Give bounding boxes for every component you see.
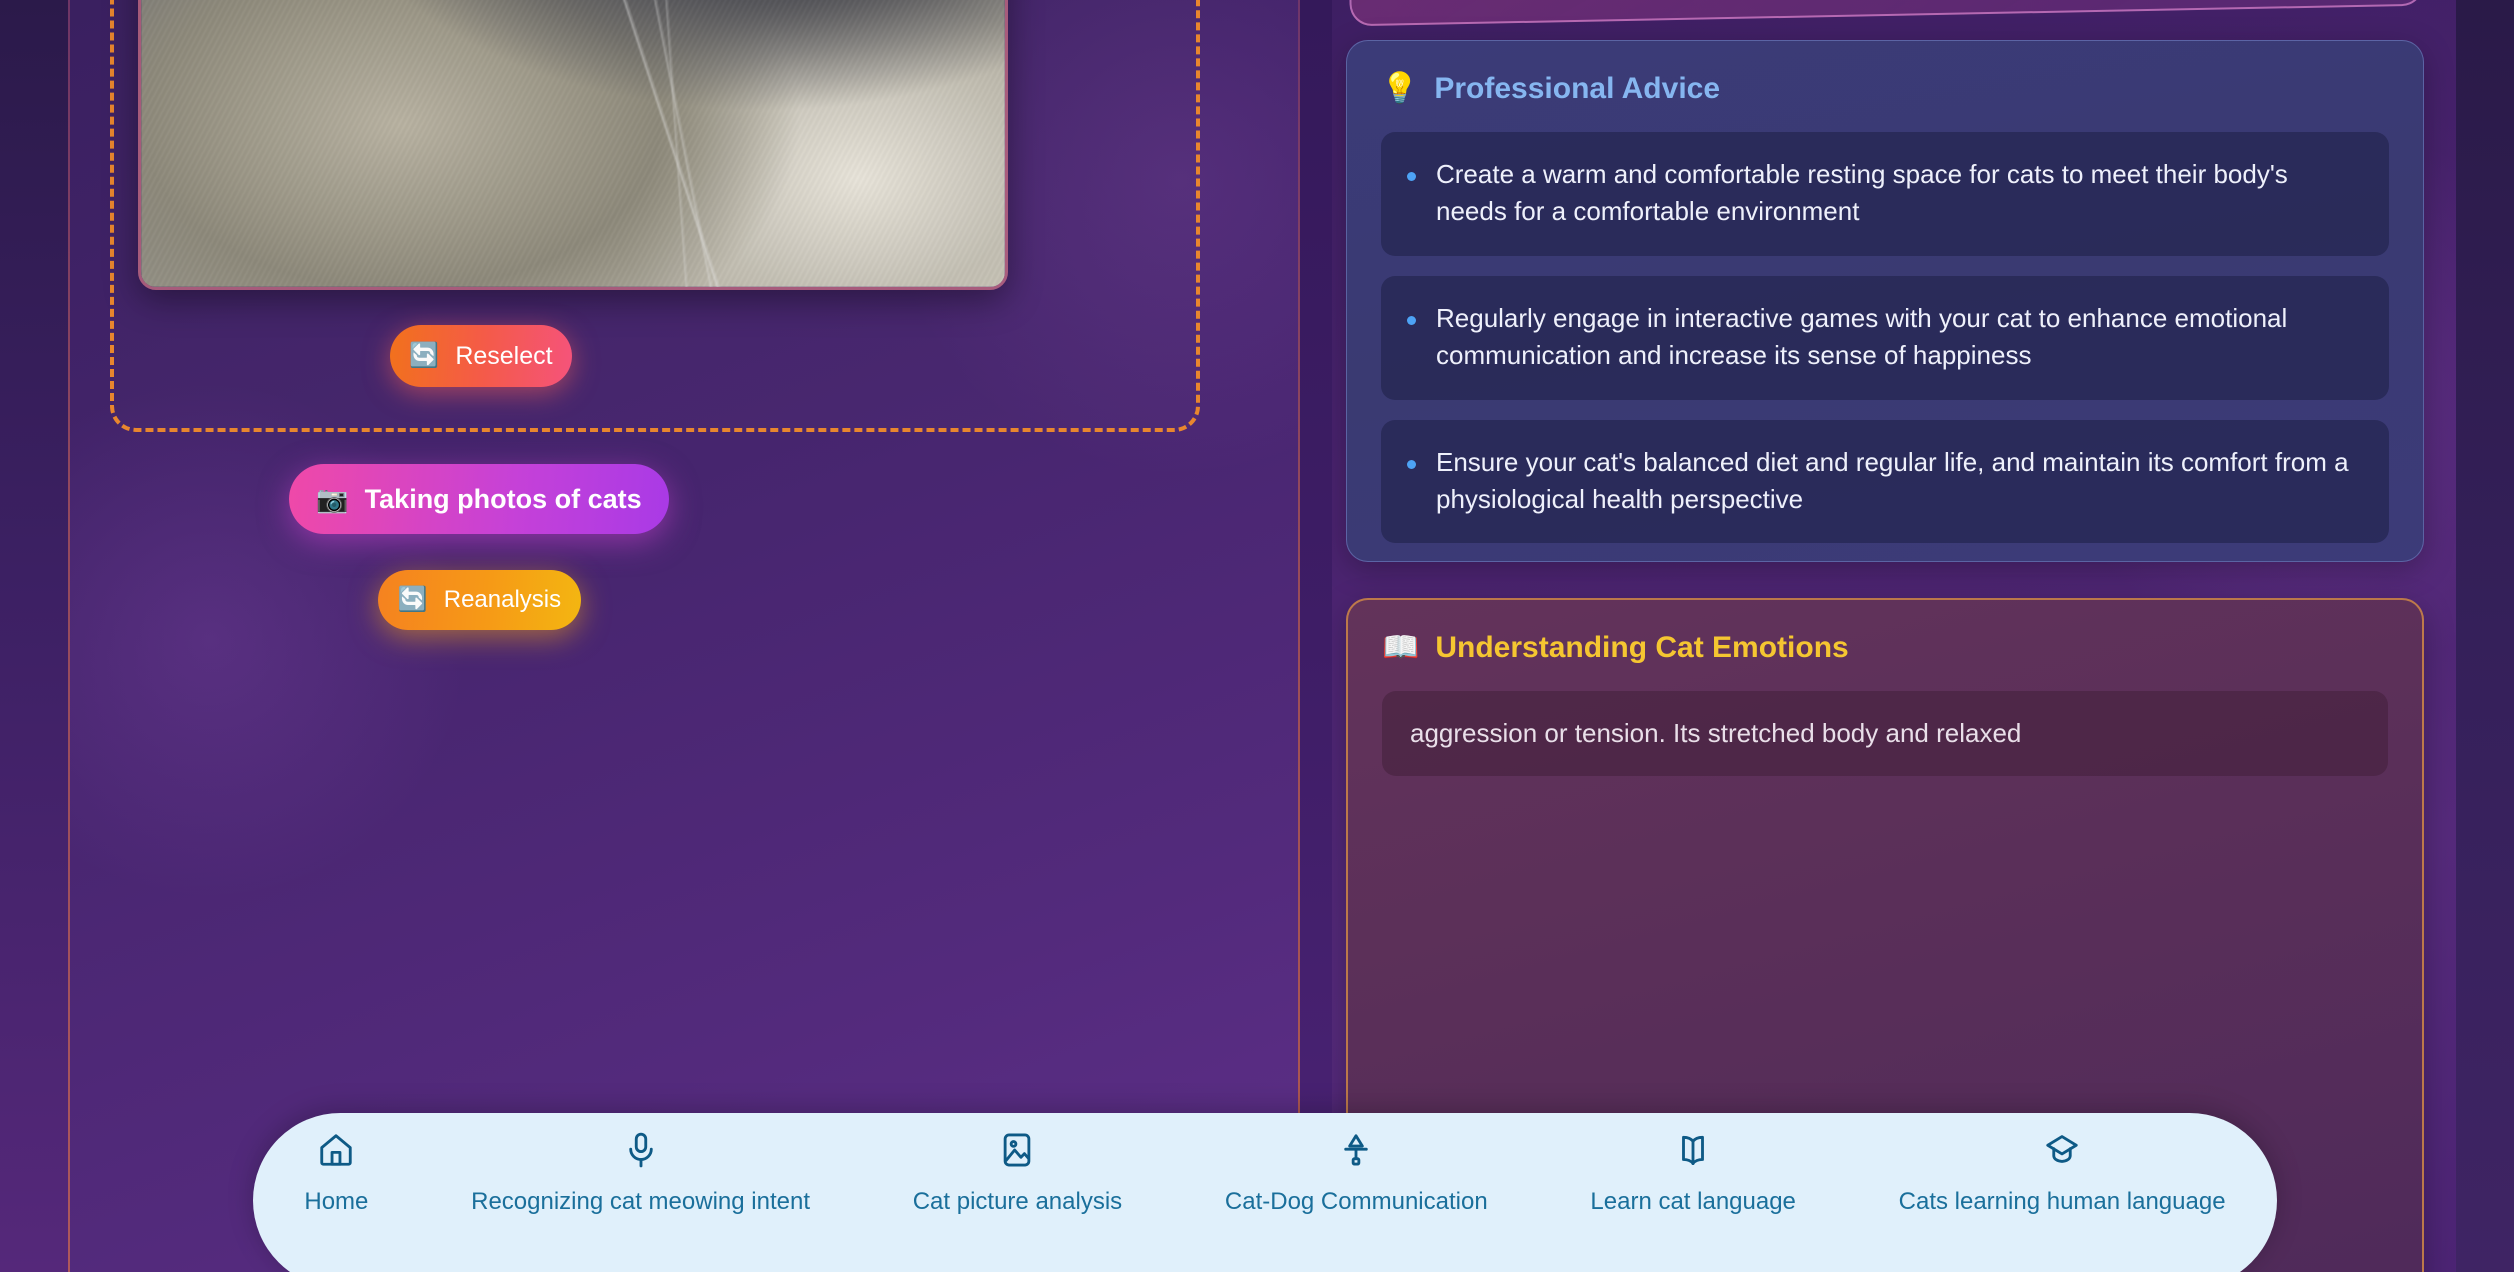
refresh-icon: 🔄	[398, 588, 428, 612]
emotion-text: aggression or tension. Its stretched bod…	[1382, 691, 2388, 776]
nav-item-recognizing-cat-meowing-intent[interactable]: Recognizing cat meowing intent	[465, 1131, 816, 1216]
nav-item-learn-cat-language-label: Learn cat language	[1590, 1188, 1796, 1216]
panel-divider-column	[1300, 0, 1332, 1272]
take-photo-button[interactable]: 📷 Taking photos of cats	[289, 464, 669, 534]
graduation-cap-icon	[2043, 1131, 2081, 1174]
left-panel: 🔄 Reselect 📷 Taking photos of cats 🔄 Rea…	[70, 0, 1300, 1272]
nav-item-home[interactable]: Home	[298, 1131, 374, 1216]
reselect-button[interactable]: 🔄 Reselect	[390, 325, 572, 387]
right-panel[interactable]: 💡 Professional Advice Create a warm and …	[1332, 0, 2456, 1272]
camera-icon: 📷	[316, 486, 348, 512]
understanding-cat-emotions-title: 📖 Understanding Cat Emotions	[1382, 630, 2388, 665]
book-icon	[1674, 1131, 1712, 1174]
professional-advice-title: 💡 Professional Advice	[1381, 71, 2389, 106]
nav-item-cat-picture-analysis[interactable]: Cat picture analysis	[907, 1131, 1128, 1216]
open-book-icon: 📖	[1382, 630, 1419, 665]
decorative-glow-left	[70, 380, 470, 900]
advice-text: Create a warm and comfortable resting sp…	[1436, 156, 2361, 230]
lightbulb-icon: 💡	[1381, 71, 1418, 106]
app-root: 🔄 Reselect 📷 Taking photos of cats 🔄 Rea…	[0, 0, 2514, 1272]
professional-advice-title-text: Professional Advice	[1434, 72, 1720, 106]
advice-list-item: Regularly engage in interactive games wi…	[1381, 276, 2389, 400]
advice-list-item: Ensure your cat's balanced diet and regu…	[1381, 420, 2389, 544]
bullet-dot-icon	[1407, 316, 1416, 325]
nav-item-cats-learning-human-language[interactable]: Cats learning human language	[1893, 1131, 2232, 1216]
reanalysis-button[interactable]: 🔄 Reanalysis	[378, 570, 581, 630]
bottom-navigation-bar: Home Recognizing cat meowing intent	[253, 1113, 2277, 1272]
previous-card-tail	[1346, 0, 2424, 26]
professional-advice-card: 💡 Professional Advice Create a warm and …	[1346, 40, 2424, 562]
nav-item-cats-learning-human-language-label: Cats learning human language	[1899, 1188, 2226, 1216]
advice-text: Ensure your cat's balanced diet and regu…	[1436, 444, 2361, 518]
home-icon	[317, 1131, 355, 1174]
nav-item-cat-dog-communication-label: Cat-Dog Communication	[1225, 1188, 1488, 1216]
advice-text: Regularly engage in interactive games wi…	[1436, 300, 2361, 374]
advice-list-item: Create a warm and comfortable resting sp…	[1381, 132, 2389, 256]
image-icon	[998, 1131, 1036, 1174]
bullet-dot-icon	[1407, 460, 1416, 469]
refresh-icon: 🔄	[409, 344, 439, 368]
nav-item-cat-dog-communication[interactable]: Cat-Dog Communication	[1219, 1131, 1494, 1216]
cat-image-preview[interactable]	[138, 0, 1008, 290]
bullet-dot-icon	[1407, 172, 1416, 181]
cat-photo	[141, 0, 1005, 287]
nav-item-recognizing-cat-meowing-intent-label: Recognizing cat meowing intent	[471, 1188, 810, 1216]
lamp-icon	[1337, 1131, 1375, 1174]
microphone-icon	[622, 1131, 660, 1174]
outer-right-strip	[2456, 0, 2514, 1272]
understanding-cat-emotions-title-text: Understanding Cat Emotions	[1435, 631, 1848, 665]
nav-item-learn-cat-language[interactable]: Learn cat language	[1584, 1131, 1802, 1216]
nav-item-home-label: Home	[304, 1188, 368, 1216]
take-photo-button-label: Taking photos of cats	[365, 484, 642, 515]
reanalysis-button-label: Reanalysis	[444, 586, 561, 614]
reselect-button-label: Reselect	[455, 342, 552, 371]
outer-left-strip	[0, 0, 68, 1272]
nav-item-cat-picture-analysis-label: Cat picture analysis	[913, 1188, 1122, 1216]
